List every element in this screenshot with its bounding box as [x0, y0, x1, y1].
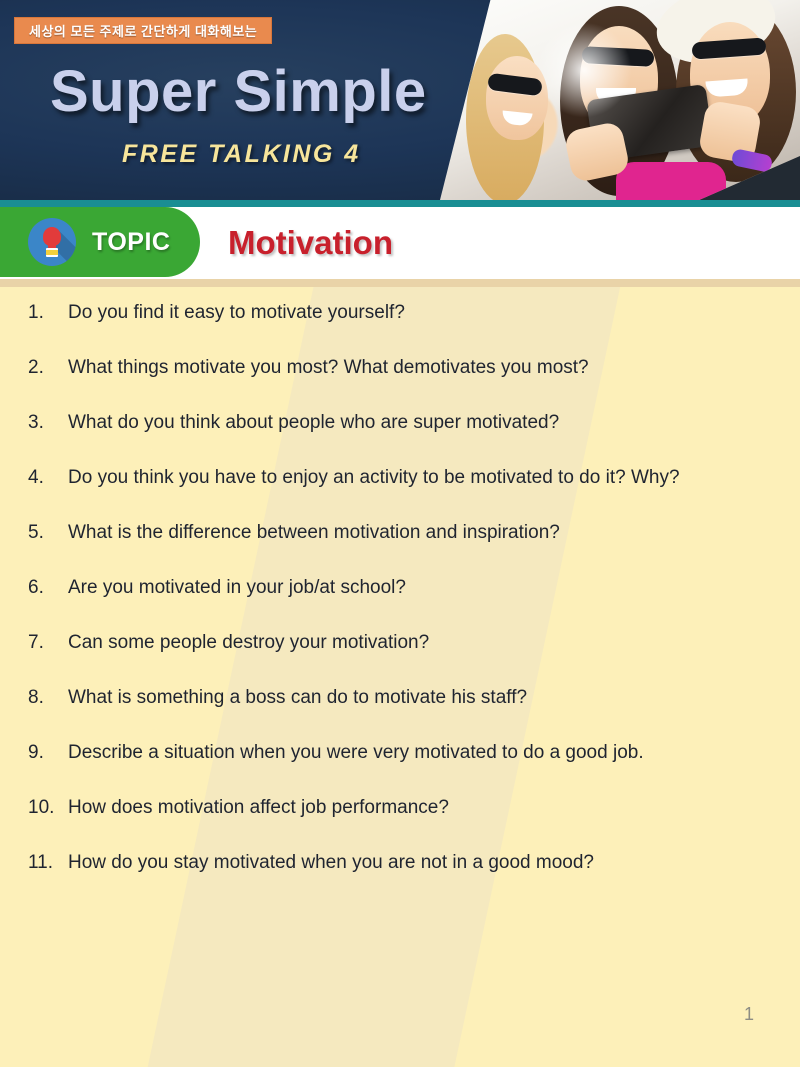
question-number: 8.: [28, 685, 68, 710]
question-row: 5.What is the difference between motivat…: [0, 520, 800, 545]
slide-page: 세상의 모든 주제로 간단하게 대화해보는 Super Simple FREE …: [0, 0, 800, 1067]
question-text: What is something a boss can do to motiv…: [68, 685, 527, 710]
question-row: 2.What things motivate you most? What de…: [0, 355, 800, 380]
lightbulb-icon: [28, 218, 76, 266]
question-text: What things motivate you most? What demo…: [68, 355, 589, 380]
question-text: What do you think about people who are s…: [68, 410, 559, 435]
question-number: 3.: [28, 410, 68, 435]
slide-header: 세상의 모든 주제로 간단하게 대화해보는 Super Simple FREE …: [0, 0, 800, 200]
question-number: 6.: [28, 575, 68, 600]
question-row: 7.Can some people destroy your motivatio…: [0, 630, 800, 655]
question-text: How does motivation affect job performan…: [68, 795, 449, 820]
teal-divider: [0, 200, 800, 207]
topic-label: TOPIC: [92, 228, 170, 257]
question-number: 11.: [28, 850, 68, 875]
korean-tagline-text: 세상의 모든 주제로 간단하게 대화해보는: [29, 21, 257, 40]
question-number: 5.: [28, 520, 68, 545]
question-number: 7.: [28, 630, 68, 655]
question-row: 9.Describe a situation when you were ver…: [0, 740, 800, 765]
question-text: Describe a situation when you were very …: [68, 740, 644, 765]
question-row: 6.Are you motivated in your job/at schoo…: [0, 575, 800, 600]
question-row: 10.How does motivation affect job perfor…: [0, 795, 800, 820]
question-text: How do you stay motivated when you are n…: [68, 850, 594, 875]
question-number: 4.: [28, 465, 68, 490]
question-row: 1.Do you find it easy to motivate yourse…: [0, 300, 800, 325]
question-number: 9.: [28, 740, 68, 765]
topic-title: Motivation: [228, 224, 393, 262]
three-women-selfie-photo: [440, 0, 800, 200]
question-text: What is the difference between motivatio…: [68, 520, 560, 545]
photo-pink-shirt: [616, 162, 726, 200]
topic-pill: TOPIC: [0, 207, 200, 277]
question-row: 8.What is something a boss can do to mot…: [0, 685, 800, 710]
korean-tagline-ribbon: 세상의 모든 주제로 간단하게 대화해보는: [14, 17, 272, 44]
lightbulb-base: [46, 248, 58, 257]
question-list: 1.Do you find it easy to motivate yourse…: [0, 300, 800, 905]
book-title: Super Simple: [50, 58, 427, 125]
question-text: Can some people destroy your motivation?: [68, 630, 429, 655]
page-number: 1: [744, 1004, 754, 1025]
tan-divider: [0, 279, 800, 287]
question-number: 1.: [28, 300, 68, 325]
question-row: 4.Do you think you have to enjoy an acti…: [0, 465, 800, 490]
question-text: Are you motivated in your job/at school?: [68, 575, 406, 600]
question-number: 2.: [28, 355, 68, 380]
question-text: Do you think you have to enjoy an activi…: [68, 465, 680, 490]
topic-bar: TOPIC Motivation: [0, 207, 800, 279]
book-subtitle: FREE TALKING 4: [122, 140, 361, 169]
question-text: Do you find it easy to motivate yourself…: [68, 300, 405, 325]
photo-sun-flare: [536, 22, 632, 118]
question-row: 3.What do you think about people who are…: [0, 410, 800, 435]
question-number: 10.: [28, 795, 68, 820]
question-row: 11.How do you stay motivated when you ar…: [0, 850, 800, 875]
